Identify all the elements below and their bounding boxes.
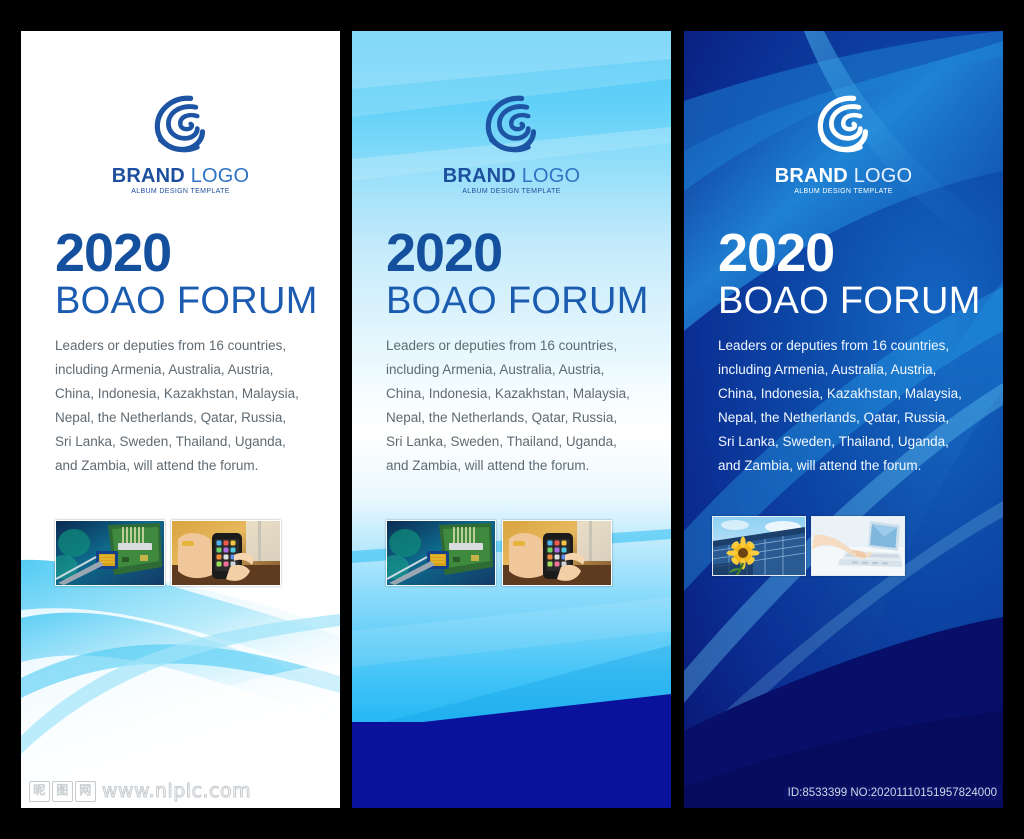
banner-panel-white[interactable]: BRAND LOGO ALBUM DESIGN TEMPLATE 2020 BO… — [21, 31, 340, 808]
brand-logo-block[interactable]: BRAND LOGO ALBUM DESIGN TEMPLATE — [352, 88, 671, 195]
brand-logo-block[interactable]: BRAND LOGO ALBUM DESIGN TEMPLATE — [21, 88, 340, 195]
headline-block: 2020 BOAO FORUM Leaders or deputies from… — [386, 226, 653, 478]
photo-strip — [386, 520, 612, 586]
photo-strip — [712, 516, 905, 576]
circuit-board-photo[interactable] — [55, 520, 165, 586]
body-paragraph: Leaders or deputies from 16 countries, i… — [386, 334, 631, 478]
hand-holding-smartphone-photo[interactable] — [171, 520, 281, 586]
brand-name-light: LOGO — [522, 165, 581, 187]
headline-block: 2020 BOAO FORUM Leaders or deputies from… — [718, 226, 985, 478]
banner-panel-dark-blue[interactable]: BRAND LOGO ALBUM DESIGN TEMPLATE 2020 BO… — [684, 31, 1003, 808]
body-paragraph: Leaders or deputies from 16 countries, i… — [718, 334, 963, 478]
globe-swirl-icon — [807, 88, 881, 162]
nipic-watermark-url: www.nipic.com — [102, 780, 251, 802]
solar-panel-sunflower-photo[interactable] — [712, 516, 806, 576]
hand-on-laptop-photo[interactable] — [811, 516, 905, 576]
brand-name-bold: BRAND — [775, 165, 848, 187]
headline-event: BOAO FORUM — [718, 282, 985, 322]
headline-event: BOAO FORUM — [386, 282, 653, 322]
brand-logo-name: BRAND LOGO — [684, 166, 1003, 186]
brand-logo-name: BRAND LOGO — [21, 166, 340, 186]
brand-tagline: ALBUM DESIGN TEMPLATE — [21, 188, 340, 195]
nipic-watermark-cn: 昵图网 — [29, 781, 96, 802]
nipic-watermark: 昵图网 www.nipic.com — [29, 780, 251, 802]
headline-year: 2020 — [718, 226, 985, 280]
photo-strip — [55, 520, 281, 586]
brand-name-bold: BRAND — [112, 165, 185, 187]
panel-2-footer-band — [352, 722, 671, 808]
banner-panel-light-blue[interactable]: BRAND LOGO ALBUM DESIGN TEMPLATE 2020 BO… — [352, 31, 671, 808]
headline-event: BOAO FORUM — [55, 282, 322, 322]
headline-year: 2020 — [386, 226, 653, 280]
brand-name-bold: BRAND — [443, 165, 516, 187]
brand-tagline: ALBUM DESIGN TEMPLATE — [684, 188, 1003, 195]
hand-holding-smartphone-photo[interactable] — [502, 520, 612, 586]
brand-name-light: LOGO — [854, 165, 913, 187]
circuit-board-photo[interactable] — [386, 520, 496, 586]
body-paragraph: Leaders or deputies from 16 countries, i… — [55, 334, 300, 478]
brand-name-light: LOGO — [191, 165, 250, 187]
globe-swirl-icon — [144, 88, 218, 162]
headline-year: 2020 — [55, 226, 322, 280]
globe-swirl-icon — [475, 88, 549, 162]
brand-logo-block[interactable]: BRAND LOGO ALBUM DESIGN TEMPLATE — [684, 88, 1003, 195]
brand-logo-name: BRAND LOGO — [352, 166, 671, 186]
banner-preview-canvas: BRAND LOGO ALBUM DESIGN TEMPLATE 2020 BO… — [0, 0, 1024, 839]
brand-tagline: ALBUM DESIGN TEMPLATE — [352, 188, 671, 195]
panel-1-wave-background — [21, 558, 340, 808]
headline-block: 2020 BOAO FORUM Leaders or deputies from… — [55, 226, 322, 478]
stock-id-watermark: ID:8533399 NO:20201110151957824000 — [784, 786, 1001, 800]
